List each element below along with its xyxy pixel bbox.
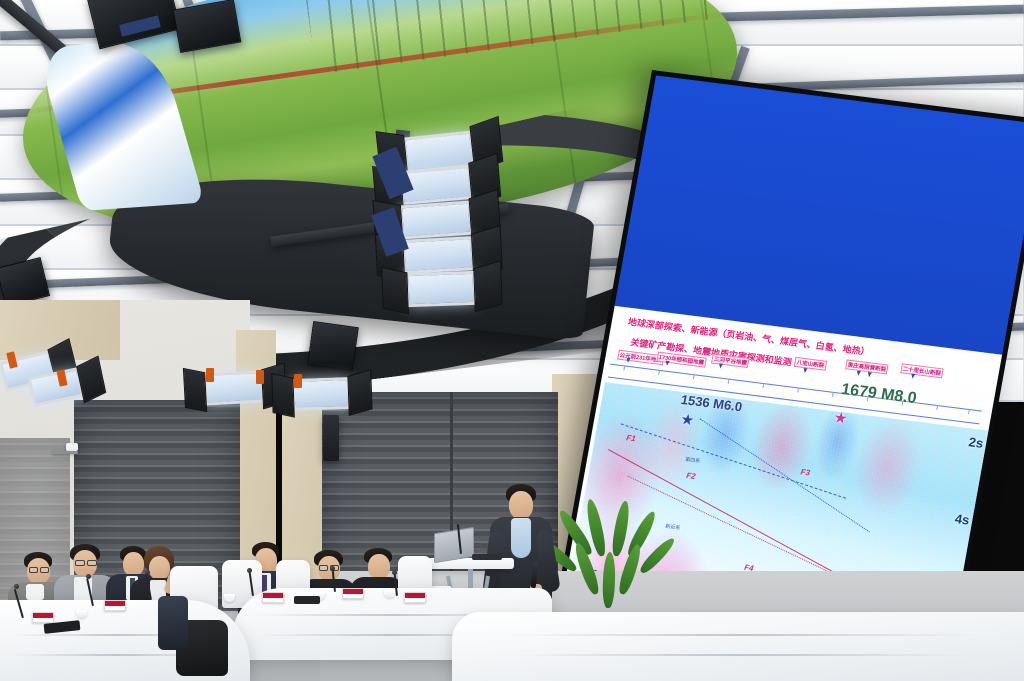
fault-label: F3 — [800, 467, 811, 477]
spotlight — [307, 321, 359, 371]
name-placard — [404, 592, 426, 603]
wall-camera — [66, 443, 78, 451]
light-mount — [256, 370, 264, 384]
earthquake-annotation: 1679 M8.0 — [840, 381, 918, 408]
microphone-head — [392, 570, 397, 575]
microphone-head — [145, 570, 150, 575]
laptop-keyboard[interactable] — [472, 554, 502, 560]
epicenter-star-icon: ★ — [679, 410, 696, 429]
light-mount — [206, 368, 214, 382]
presenter-head — [509, 491, 533, 519]
ring-tree-line — [304, 0, 732, 75]
name-placard — [342, 588, 364, 599]
fault-label: F1 — [626, 433, 637, 443]
camera-bracket — [52, 451, 78, 454]
microphone-head — [330, 566, 335, 571]
panel-light — [405, 271, 476, 307]
notebook[interactable] — [294, 596, 320, 604]
timeline-event-label: 八宝山断裂 — [794, 357, 827, 371]
laptop-screen[interactable] — [434, 527, 474, 563]
name-placard — [104, 600, 126, 611]
name-placard — [262, 592, 284, 603]
wall-speaker — [323, 415, 339, 461]
name-placard — [32, 612, 54, 623]
light-mount — [294, 374, 302, 388]
panel-light — [399, 201, 473, 240]
studio-presentation-photo: 一、地质探测需求 （页岩油、气、煤层气、白氢、地热）勘探 地球深部探索、新能源（… — [0, 0, 1024, 681]
fault-label: F2 — [685, 471, 696, 481]
timeline-event-label: 二十里长山断裂 — [900, 363, 944, 378]
panel-light — [401, 236, 475, 274]
microphone-head — [86, 574, 91, 579]
seated-person-leg — [158, 596, 188, 650]
slide-banner — [615, 76, 1024, 355]
depth-axis-label: 2s — [968, 434, 985, 451]
microphone-head — [247, 568, 252, 573]
microphone-head — [14, 584, 19, 589]
conference-desk-foreground — [452, 612, 1024, 681]
depth-axis-label: 4s — [954, 511, 971, 528]
timeline-event-label: 黄庄高丽营断裂 — [845, 360, 889, 375]
